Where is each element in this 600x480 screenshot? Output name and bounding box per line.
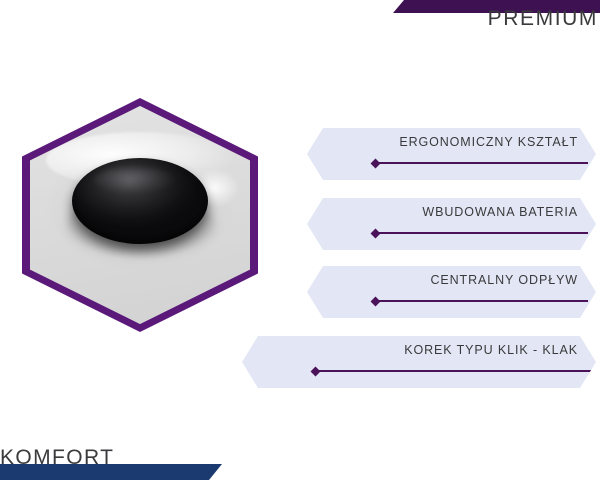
feature-rule	[375, 162, 588, 164]
feature-banner[interactable]: KOREK TYPU KLIK - KLAK	[242, 336, 596, 388]
feature-rule	[315, 370, 593, 372]
feature-label: WBUDOWANA BATERIA	[422, 206, 578, 219]
feature-rule	[375, 232, 588, 234]
feature-diamond-marker	[371, 158, 381, 168]
feature-label: CENTRALNY ODPŁYW	[430, 274, 578, 287]
feature-diamond-marker	[371, 228, 381, 238]
feature-label: KOREK TYPU KLIK - KLAK	[404, 344, 578, 357]
page-title-komfort: KOMFORT	[0, 447, 114, 468]
stopper-gloss	[94, 167, 174, 193]
feature-diamond-marker	[311, 366, 321, 376]
feature-diamond-marker	[371, 296, 381, 306]
product-hexagon	[22, 98, 258, 332]
drain-stopper	[72, 158, 208, 244]
page-title-premium: PREMIUM	[488, 8, 598, 29]
feature-banner[interactable]: CENTRALNY ODPŁYW	[307, 266, 596, 318]
feature-rule	[375, 300, 588, 302]
feature-banner[interactable]: WBUDOWANA BATERIA	[307, 198, 596, 250]
feature-label: ERGONOMICZNY KSZTAŁT	[399, 136, 578, 149]
infographic-canvas: PREMIUM ERGONOMICZNY KSZTAŁTWBUDOWANA BA…	[0, 0, 600, 480]
feature-banner[interactable]: ERGONOMICZNY KSZTAŁT	[307, 128, 596, 180]
